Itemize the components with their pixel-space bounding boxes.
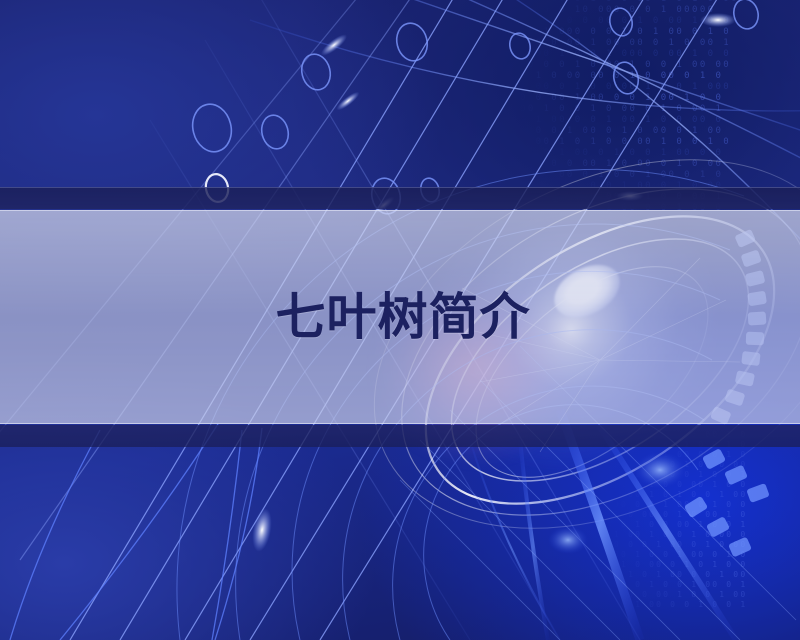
title-container: 七叶树简介 bbox=[0, 210, 800, 424]
page-title: 七叶树简介 bbox=[270, 292, 531, 342]
title-slide: 0 1 00 0 1 0 0 00 1 0 1 0 001 00 0 10 00… bbox=[0, 0, 800, 640]
curve-line bbox=[10, 424, 262, 640]
glow-spark bbox=[249, 452, 686, 554]
banner-band-top bbox=[0, 187, 800, 209]
banner-band-bottom bbox=[0, 425, 800, 447]
